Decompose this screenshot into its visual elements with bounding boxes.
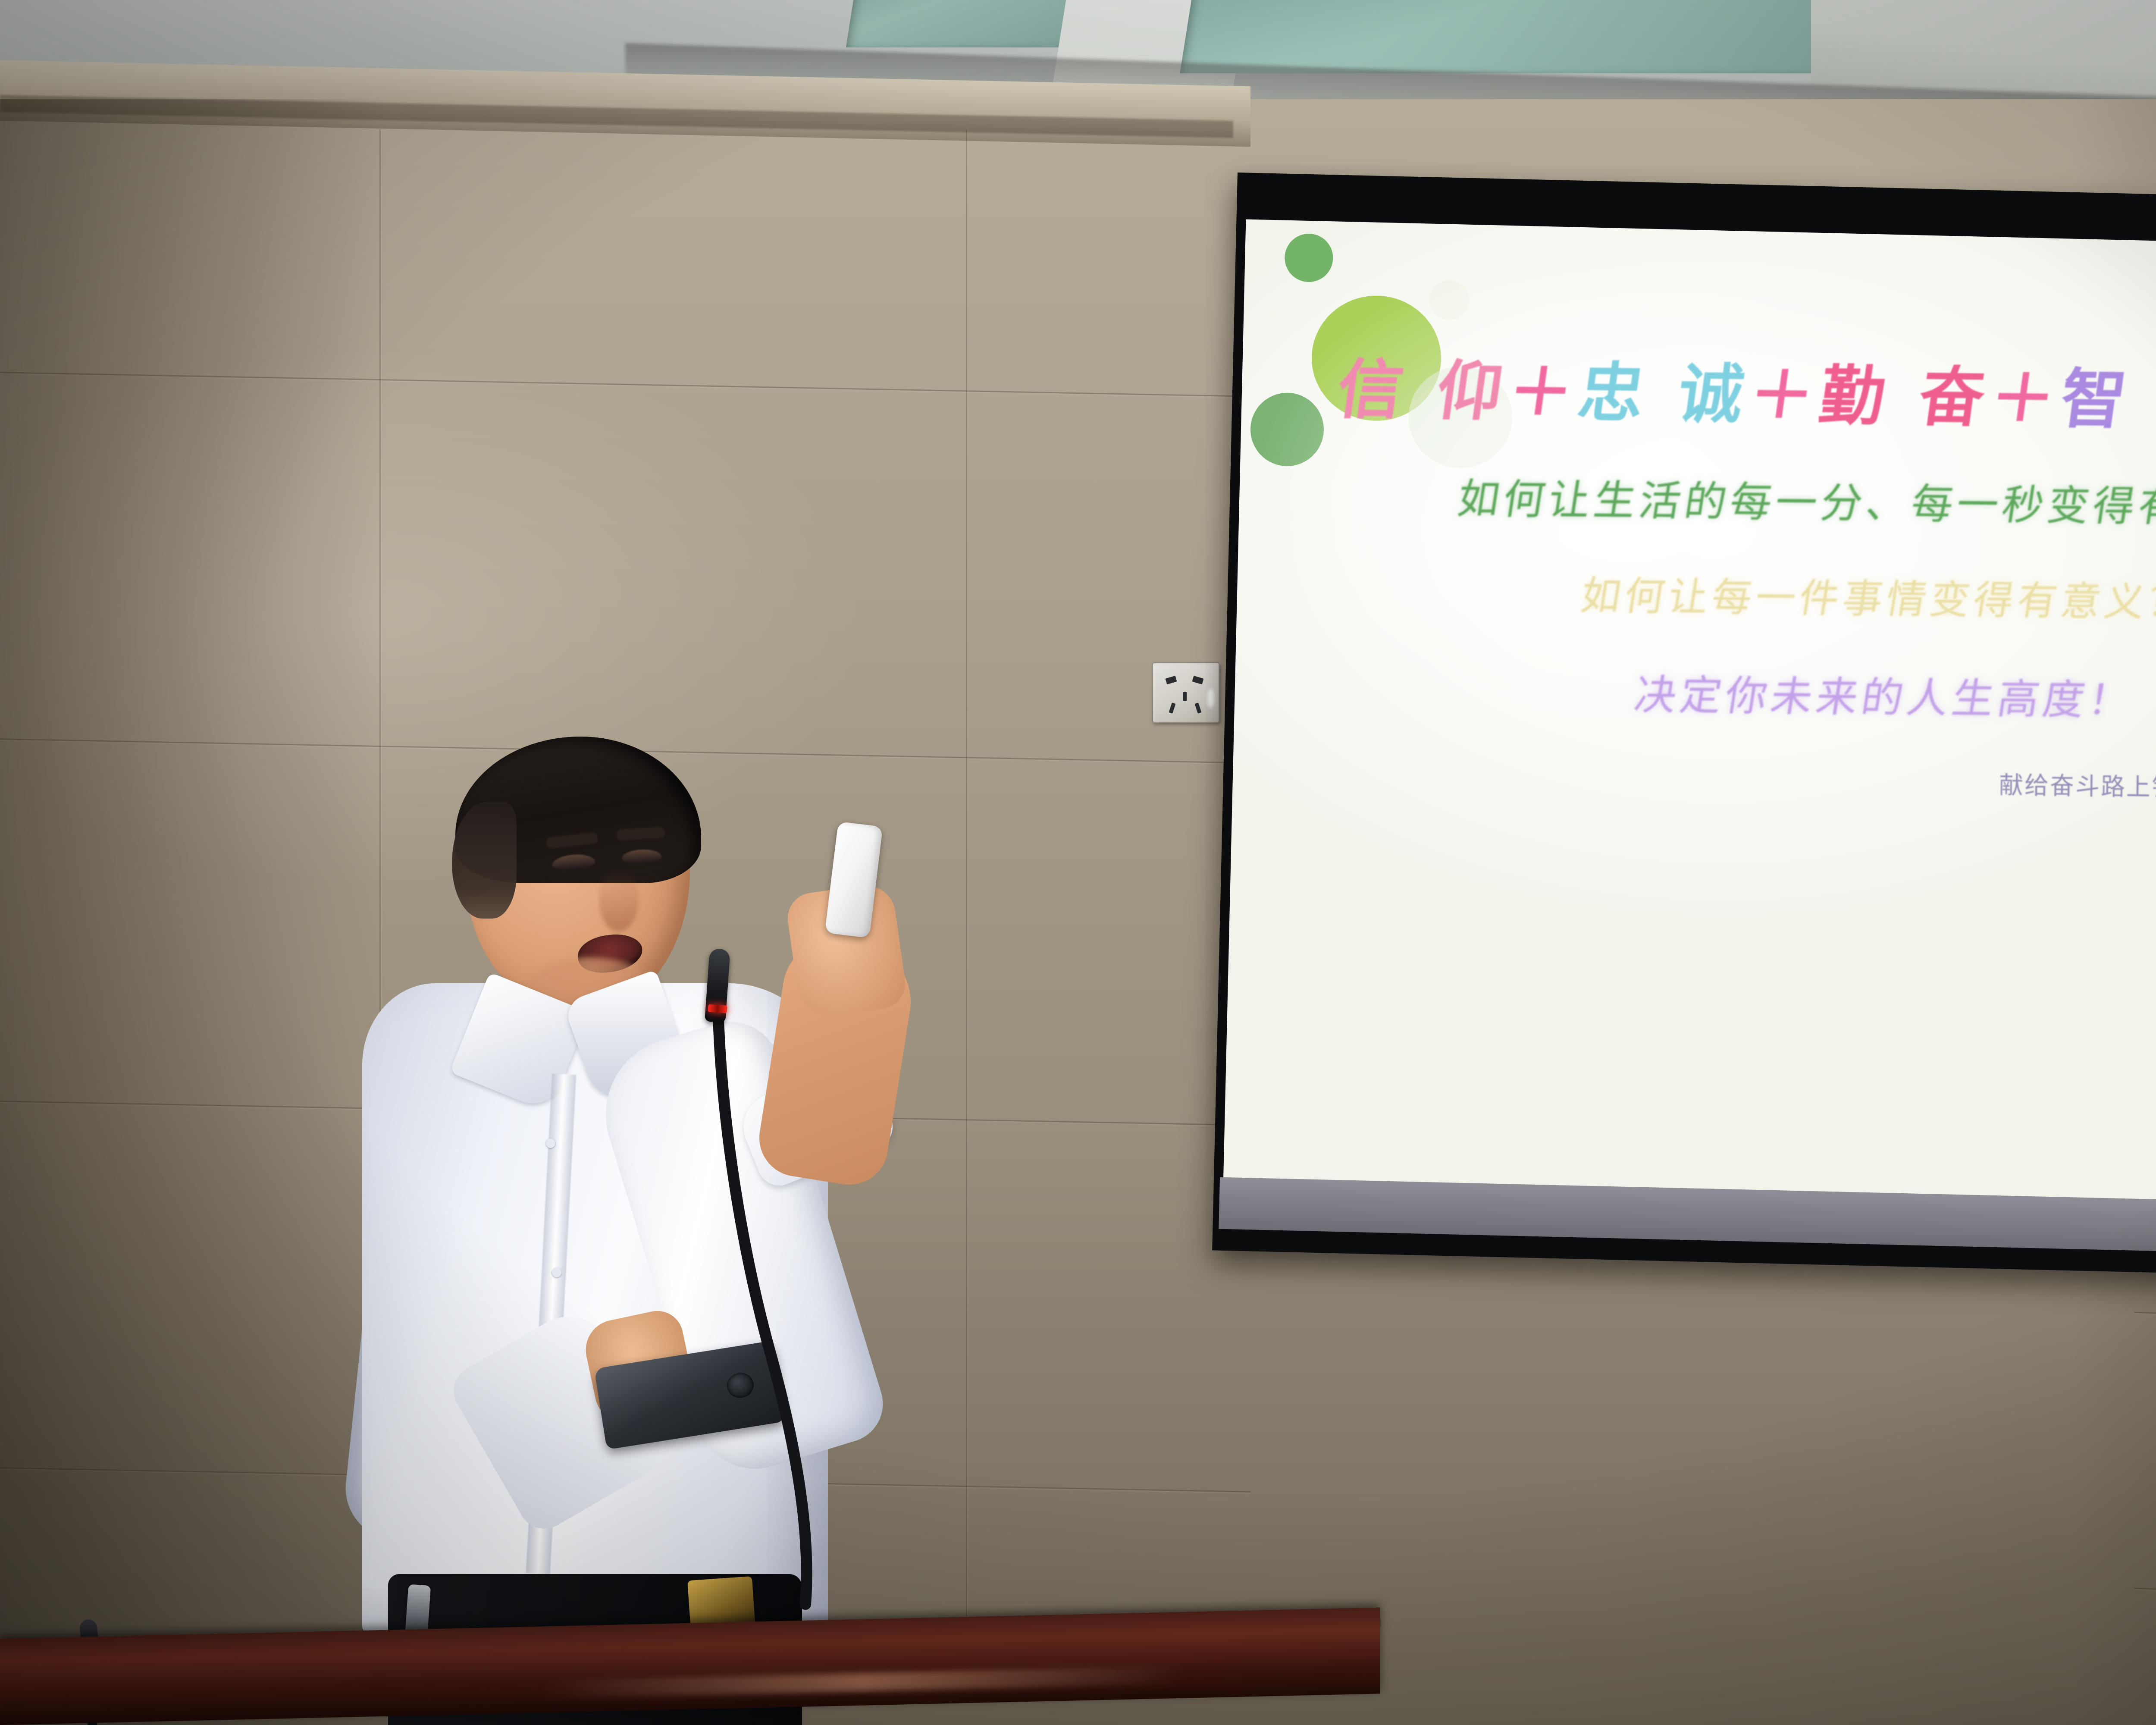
presenter xyxy=(336,699,1069,1725)
wall-shadow-left xyxy=(0,99,388,1725)
slide-line-2: 如何让生活的每一分、每一秒变得有意义？ xyxy=(1454,465,2156,535)
slide-title-segment: 智 慧 xyxy=(2056,347,2156,442)
slide-credit: 献给奋斗路上铭志的你和我！——彭学军 xyxy=(1999,766,2156,808)
slide-title-segment: ＋ xyxy=(1744,343,1827,437)
shirt-button xyxy=(552,1268,561,1277)
slide-text-block: 信 仰＋忠 诚＋勤 奋＋智 慧＝成功 如何让生活的每一分、每一秒变得有意义？ 如… xyxy=(1223,219,2156,1211)
slide-line-3: 如何让每一件事情变得有意义？ xyxy=(1577,564,2156,628)
slide-title: 信 仰＋忠 诚＋勤 奋＋智 慧＝成功 xyxy=(1333,337,2156,445)
presenter-hair-side xyxy=(452,802,517,919)
photo-canvas: CREC 中国中铁 信 仰＋忠 诚＋勤 奋＋智 慧＝成功 如何让生活的每一分、每… xyxy=(0,0,2156,1725)
microphone-status-led xyxy=(708,1004,727,1013)
shirt-button xyxy=(546,1138,555,1148)
slide-title-segment: ＋ xyxy=(1503,340,1586,434)
ceiling-panel-right xyxy=(1180,0,1873,73)
projection-screen: CREC 中国中铁 信 仰＋忠 诚＋勤 奋＋智 慧＝成功 如何让生活的每一分、每… xyxy=(1212,172,2156,1308)
slide-title-segment: 信 仰 xyxy=(1333,337,1516,433)
wall-socket-icon[interactable] xyxy=(1152,662,1219,723)
slide-line-4: 决定你未来的人生高度！ xyxy=(1631,661,2139,727)
slide-title-segment: 勤 奋 xyxy=(1815,344,1998,439)
slide-title-segment: 忠 诚 xyxy=(1574,341,1757,436)
presenter-nose xyxy=(599,871,638,931)
slide-content: CREC 中国中铁 信 仰＋忠 诚＋勤 奋＋智 慧＝成功 如何让生活的每一分、每… xyxy=(1223,219,2156,1211)
slide-title-segment: ＋ xyxy=(1985,346,2068,440)
